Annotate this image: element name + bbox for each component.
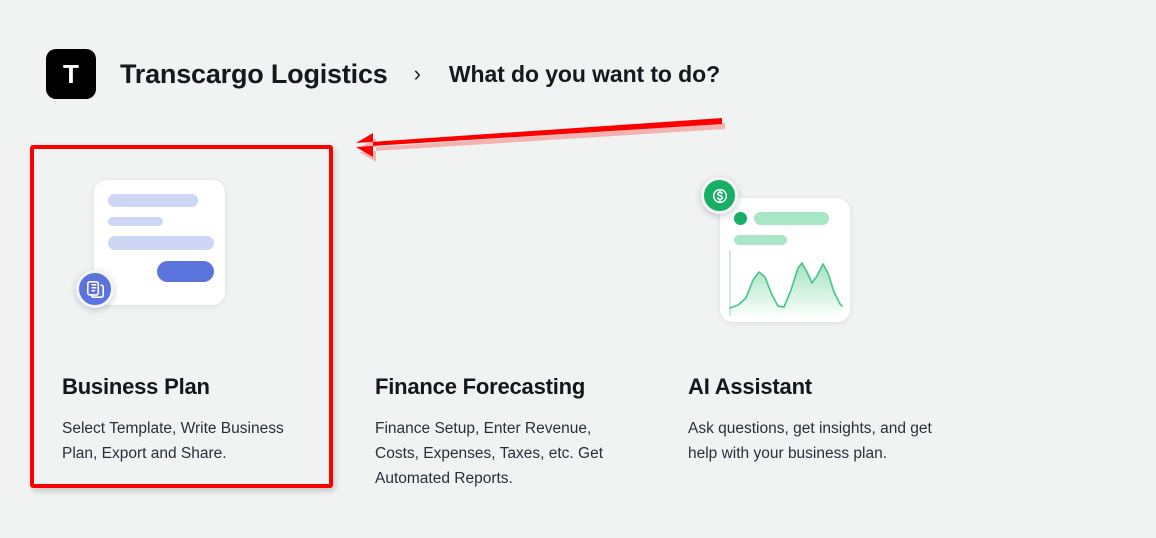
placeholder-button: [157, 261, 214, 282]
card-title: Finance Forecasting: [375, 374, 688, 400]
card-description: Ask questions, get insights, and get hel…: [688, 416, 943, 466]
org-logo-letter: T: [63, 61, 79, 87]
document-copy-icon: [76, 270, 114, 308]
business-plan-illustration: [62, 172, 375, 322]
card-ai-assistant[interactable]: AI Assistant Ask questions, get insights…: [688, 172, 1001, 491]
page-title: What do you want to do?: [449, 61, 720, 88]
placeholder-bar: [108, 217, 163, 226]
card-description: Finance Setup, Enter Revenue, Costs, Exp…: [375, 416, 630, 491]
ai-assistant-illustration: [688, 172, 1001, 322]
card-business-plan[interactable]: Business Plan Select Template, Write Bus…: [62, 172, 375, 491]
card-title: Business Plan: [62, 374, 375, 400]
org-logo-tile[interactable]: T: [46, 49, 96, 99]
card-finance-forecasting[interactable]: Finance Forecasting Finance Setup, Enter…: [375, 172, 688, 491]
placeholder-bar: [108, 236, 214, 250]
chevron-right-icon: ›: [414, 61, 421, 87]
app-root: T Transcargo Logistics › What do you wan…: [0, 0, 1156, 538]
action-card-list: Business Plan Select Template, Write Bus…: [62, 172, 1001, 491]
breadcrumb: T Transcargo Logistics › What do you wan…: [46, 49, 720, 99]
breadcrumb-org-name[interactable]: Transcargo Logistics: [120, 59, 388, 90]
finance-forecasting-illustration: [375, 172, 688, 322]
placeholder-bar: [108, 194, 198, 207]
card-description: Select Template, Write Business Plan, Ex…: [62, 416, 317, 466]
card-title: AI Assistant: [688, 374, 1001, 400]
